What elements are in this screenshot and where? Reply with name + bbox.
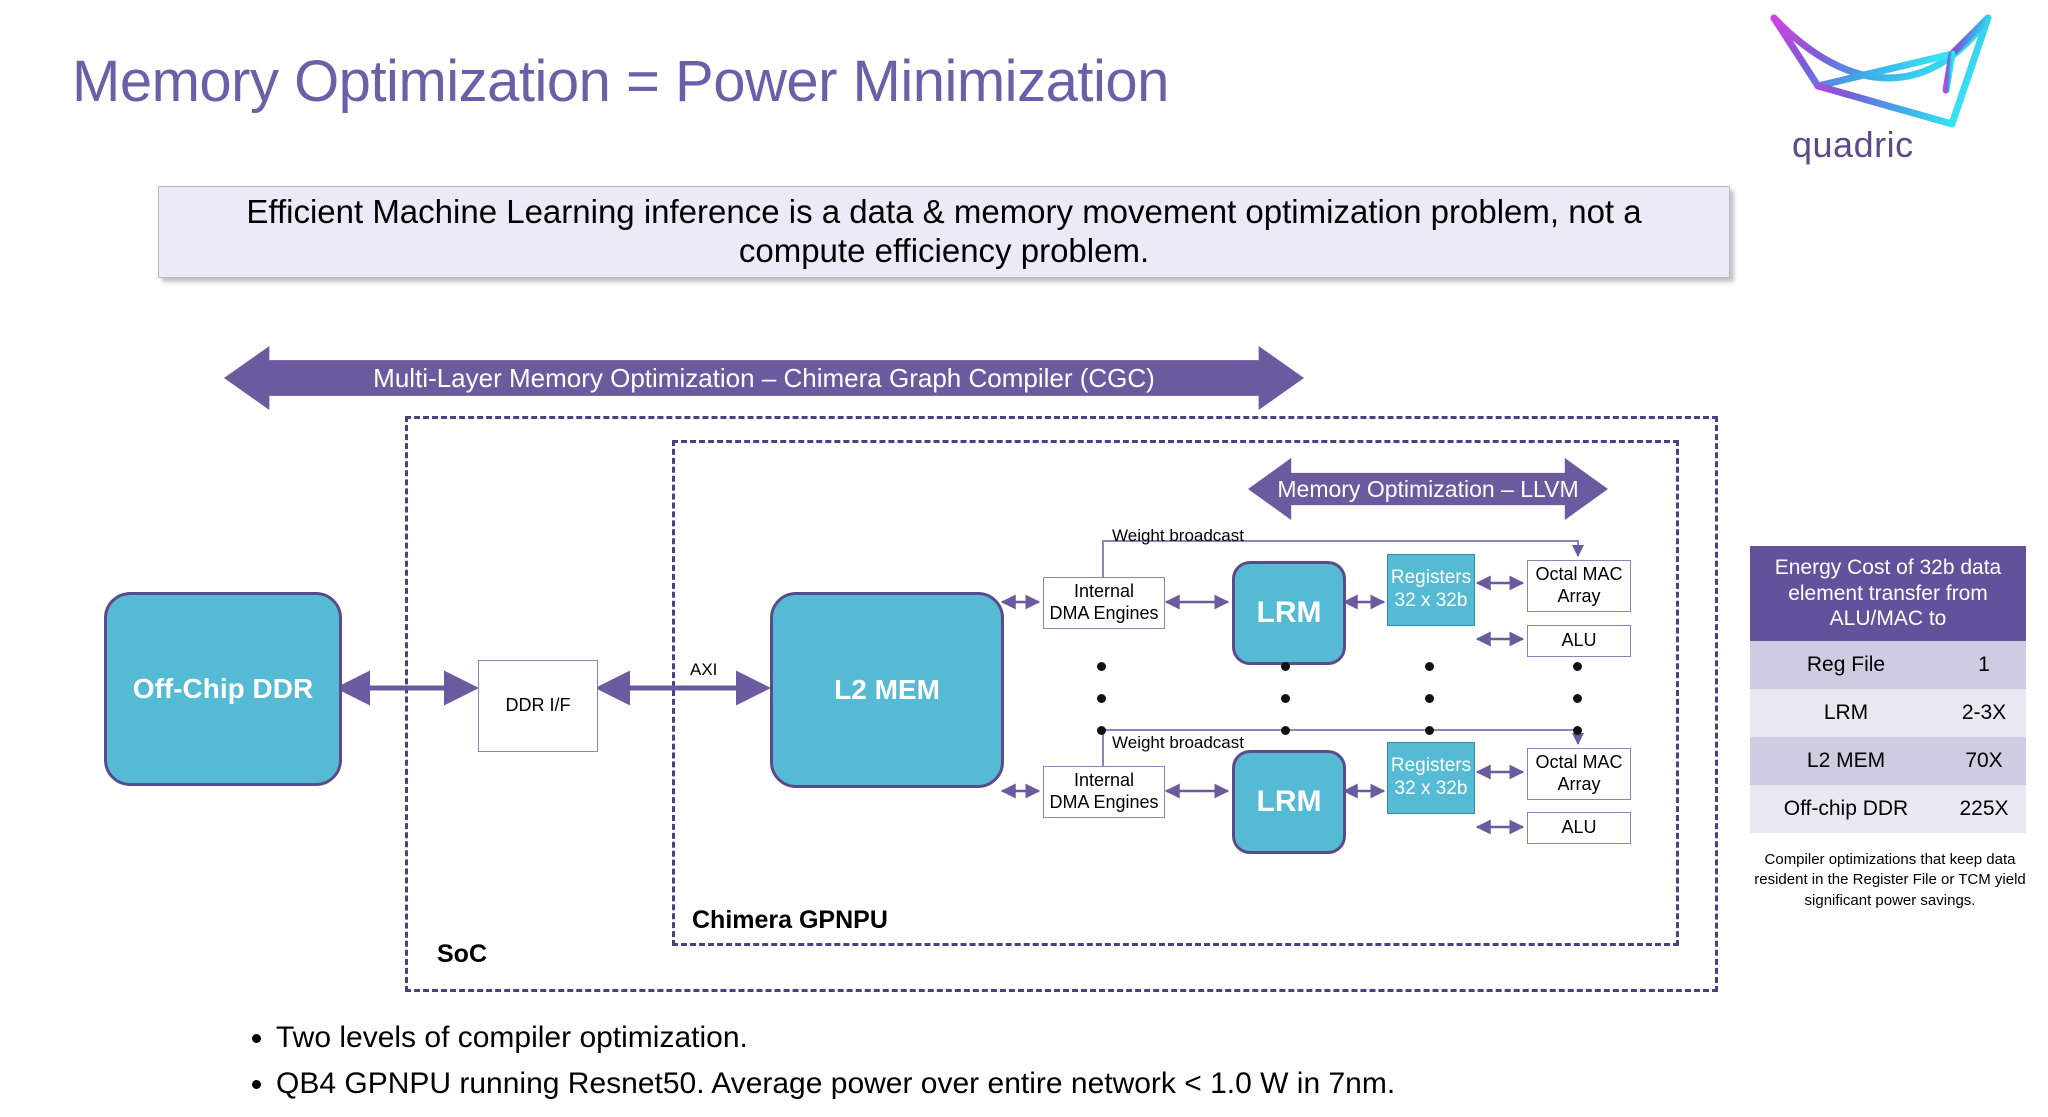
dma-label-line2: DMA Engines — [1049, 603, 1158, 625]
mac-label-line1: Octal MAC — [1535, 564, 1622, 586]
internal-dma-engines-lane-1: Internal DMA Engines — [1043, 577, 1165, 629]
ellipsis-dots-column-3 — [1425, 662, 1434, 758]
quadric-logo: quadric — [1756, 6, 2036, 166]
registers-label-line2: 32 x 32b — [1391, 778, 1471, 801]
list-item: QB4 GPNPU running Resnet50. Average powe… — [276, 1062, 1748, 1106]
table-row: Reg File 1 — [1750, 641, 2026, 689]
cgc-banner-arrow: Multi-Layer Memory Optimization – Chimer… — [224, 346, 1304, 410]
table-cell-cost: 2-3X — [1942, 689, 2026, 737]
dma-label-line1: Internal — [1049, 581, 1158, 603]
quadric-logo-icon — [1756, 6, 2036, 136]
bullet-list: Two levels of compiler optimization. QB4… — [248, 1016, 1748, 1107]
energy-table-header: Energy Cost of 32b data element transfer… — [1750, 546, 2026, 641]
weight-broadcast-label-lane-2: Weight broadcast — [1112, 733, 1244, 753]
table-cell-cost: 70X — [1942, 737, 2026, 785]
table-row: LRM 2-3X — [1750, 689, 2026, 737]
l2-mem-block: L2 MEM — [770, 592, 1004, 788]
lrm-block-lane-1: LRM — [1232, 561, 1346, 665]
dma-label-line2: DMA Engines — [1049, 792, 1158, 814]
energy-table-caption: Compiler optimizations that keep data re… — [1752, 850, 2028, 911]
llvm-banner-label: Memory Optimization – LLVM — [1248, 458, 1608, 520]
registers-label-line1: Registers — [1391, 755, 1471, 778]
ellipsis-dots-column-4 — [1573, 662, 1582, 758]
dma-label-line1: Internal — [1049, 770, 1158, 792]
mac-label-line2: Array — [1535, 586, 1622, 608]
logo-wordmark: quadric — [1792, 124, 1914, 166]
registers-block-lane-1: Registers 32 x 32b — [1387, 554, 1475, 626]
registers-label-line1: Registers — [1391, 567, 1471, 590]
axi-label: AXI — [690, 660, 717, 680]
table-cell-destination: Off-chip DDR — [1750, 785, 1942, 833]
llvm-banner-arrow: Memory Optimization – LLVM — [1248, 458, 1608, 520]
ellipsis-dots-column-2 — [1281, 662, 1290, 758]
table-cell-cost: 225X — [1942, 785, 2026, 833]
list-item: Two levels of compiler optimization. — [276, 1016, 1748, 1060]
callout-text: Efficient Machine Learning inference is … — [159, 193, 1729, 271]
octal-mac-array-lane-1: Octal MAC Array — [1527, 560, 1631, 612]
mac-label-line2: Array — [1535, 774, 1622, 796]
energy-cost-table: Energy Cost of 32b data element transfer… — [1750, 546, 2026, 833]
table-cell-destination: L2 MEM — [1750, 737, 1942, 785]
internal-dma-engines-lane-2: Internal DMA Engines — [1043, 766, 1165, 818]
chimera-gpnpu-label: Chimera GPNPU — [692, 906, 888, 935]
registers-label-line2: 32 x 32b — [1391, 590, 1471, 613]
weight-broadcast-label-lane-1: Weight broadcast — [1112, 526, 1244, 546]
alu-block-lane-1: ALU — [1527, 625, 1631, 657]
table-cell-destination: Reg File — [1750, 641, 1942, 689]
table-row: Off-chip DDR 225X — [1750, 785, 2026, 833]
table-row: L2 MEM 70X — [1750, 737, 2026, 785]
table-cell-cost: 1 — [1942, 641, 2026, 689]
ellipsis-dots-column-1 — [1097, 662, 1106, 758]
cgc-banner-label: Multi-Layer Memory Optimization – Chimer… — [224, 346, 1304, 410]
off-chip-ddr-block: Off-Chip DDR — [104, 592, 342, 786]
ddr-interface-block: DDR I/F — [478, 660, 598, 752]
soc-label: SoC — [437, 940, 487, 969]
page-title: Memory Optimization = Power Minimization — [72, 48, 1169, 115]
callout-box: Efficient Machine Learning inference is … — [158, 186, 1730, 278]
lrm-block-lane-2: LRM — [1232, 750, 1346, 854]
alu-block-lane-2: ALU — [1527, 812, 1631, 844]
table-cell-destination: LRM — [1750, 689, 1942, 737]
